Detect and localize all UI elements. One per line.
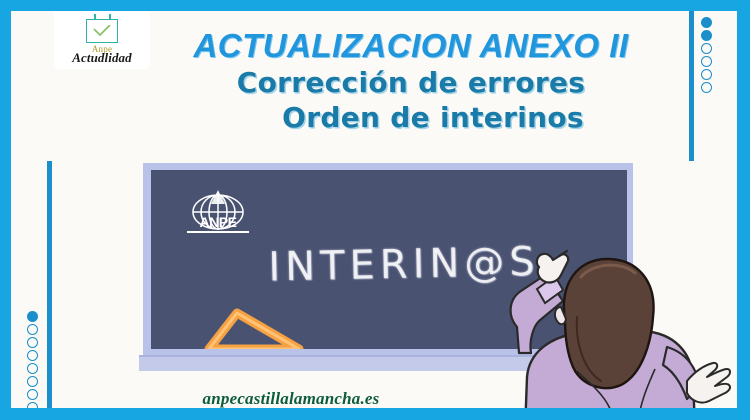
check-mark-icon [93,25,111,36]
dot [701,17,712,28]
dot [701,56,712,67]
dot [27,376,38,387]
anpe-actualidad-logo: Anpe Actudlidad [54,11,150,69]
dot [701,82,712,93]
frame-bottom-bar [0,408,750,420]
headline-block: ACTUALIZACION ANEXO II Corrección de err… [141,27,681,135]
dot [27,324,38,335]
dot [27,363,38,374]
dot [27,311,38,322]
accent-rule-left [47,161,52,408]
logo-name-text: Actudlidad [72,51,132,65]
calendar-check-icon [84,14,120,44]
frame-top-bar [0,0,750,11]
poster-canvas: Anpe Actudlidad ACTUALIZACION ANEXO II C… [0,0,750,420]
frame-right-bar [737,0,750,420]
teacher-figure-illustration [481,249,737,408]
set-square-icon [175,305,305,349]
dot [27,337,38,348]
headline-main: ACTUALIZACION ANEXO II [141,27,681,65]
poster-inner-canvas: Anpe Actudlidad ACTUALIZACION ANEXO II C… [11,11,737,408]
dot [701,69,712,80]
dot-column-right [701,17,712,93]
frame-left-bar [0,0,11,420]
dot [701,43,712,54]
anpe-wordmark: ANPE [187,214,249,233]
accent-rule-right [689,11,694,161]
dot [27,350,38,361]
headline-sub-1: Corrección de errores [141,65,681,100]
website-url: anpecastillalamancha.es [11,389,571,408]
dot [701,30,712,41]
headline-sub-2: Orden de interinos [141,100,681,135]
